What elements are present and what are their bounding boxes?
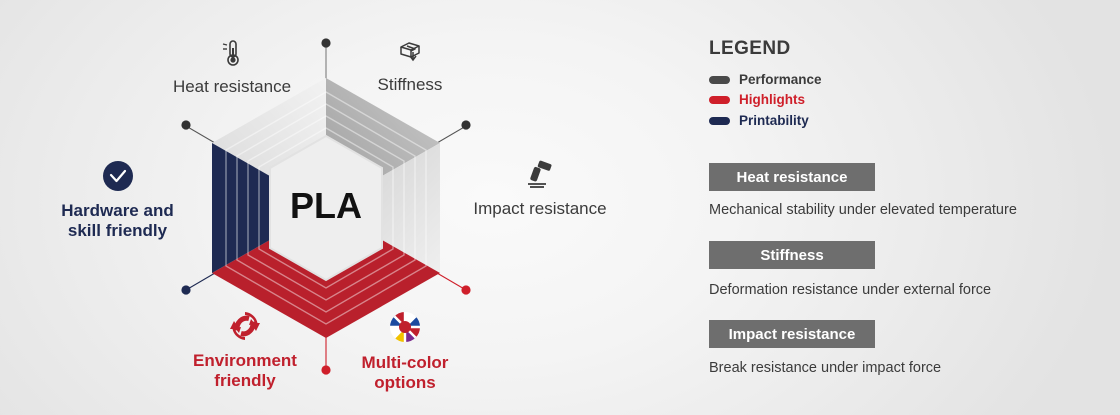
node-environment-friendly[interactable]: Environment friendly [170,310,320,391]
dot-stiffness [461,120,470,129]
legend-item-printability: Printability [709,113,809,128]
node-label: Stiffness [320,75,500,95]
node-heat-resistance[interactable]: Heat resistance [112,38,352,97]
node-hardware-skill-friendly[interactable]: Hardware and skill friendly [40,160,195,241]
property-description-stiffness: Deformation resistance under external fo… [709,282,991,298]
legend-label: Performance [739,72,822,87]
info-panel: LEGEND Performance Highlights Printabili… [709,0,1120,415]
dot-impact [461,285,470,294]
legend-swatch [709,117,730,125]
node-multi-color-options[interactable]: Multi-color options [330,310,480,393]
node-label-line2: options [330,373,480,393]
check-circle-icon [40,160,195,197]
node-impact-resistance[interactable]: Impact resistance [450,160,630,219]
legend-label: Printability [739,113,809,128]
legend-title: LEGEND [709,38,791,60]
hammer-icon [450,160,630,195]
property-description-heat-resistance: Mechanical stability under elevated temp… [709,202,1017,218]
legend-label: Highlights [739,92,805,107]
node-label-line1: Environment [170,351,320,371]
node-label-line1: Multi-color [330,353,480,373]
node-stiffness[interactable]: Stiffness [320,38,500,95]
color-wheel-icon [330,310,480,349]
beam-icon [320,38,500,71]
node-label: Heat resistance [112,77,352,97]
legend-item-performance: Performance [709,72,822,87]
center-material-label: PLA [290,185,362,226]
legend-swatch [709,96,730,104]
dot-hardware [181,120,190,129]
property-badge-stiffness[interactable]: Stiffness [709,241,875,269]
node-label-line2: friendly [170,371,320,391]
recycle-icon [170,310,320,347]
thermometer-icon [112,38,352,73]
legend-item-highlights: Highlights [709,92,805,107]
dot-environment [181,285,190,294]
property-badge-heat-resistance[interactable]: Heat resistance [709,163,875,191]
property-badge-impact-resistance[interactable]: Impact resistance [709,320,875,348]
hex-radar-diagram: PLA [0,0,690,415]
legend-swatch [709,76,730,84]
node-label-line2: skill friendly [40,221,195,241]
node-label: Impact resistance [450,199,630,219]
node-label-line1: Hardware and [40,201,195,221]
infographic-root: PLA [0,0,1120,415]
property-description-impact-resistance: Break resistance under impact force [709,360,941,376]
